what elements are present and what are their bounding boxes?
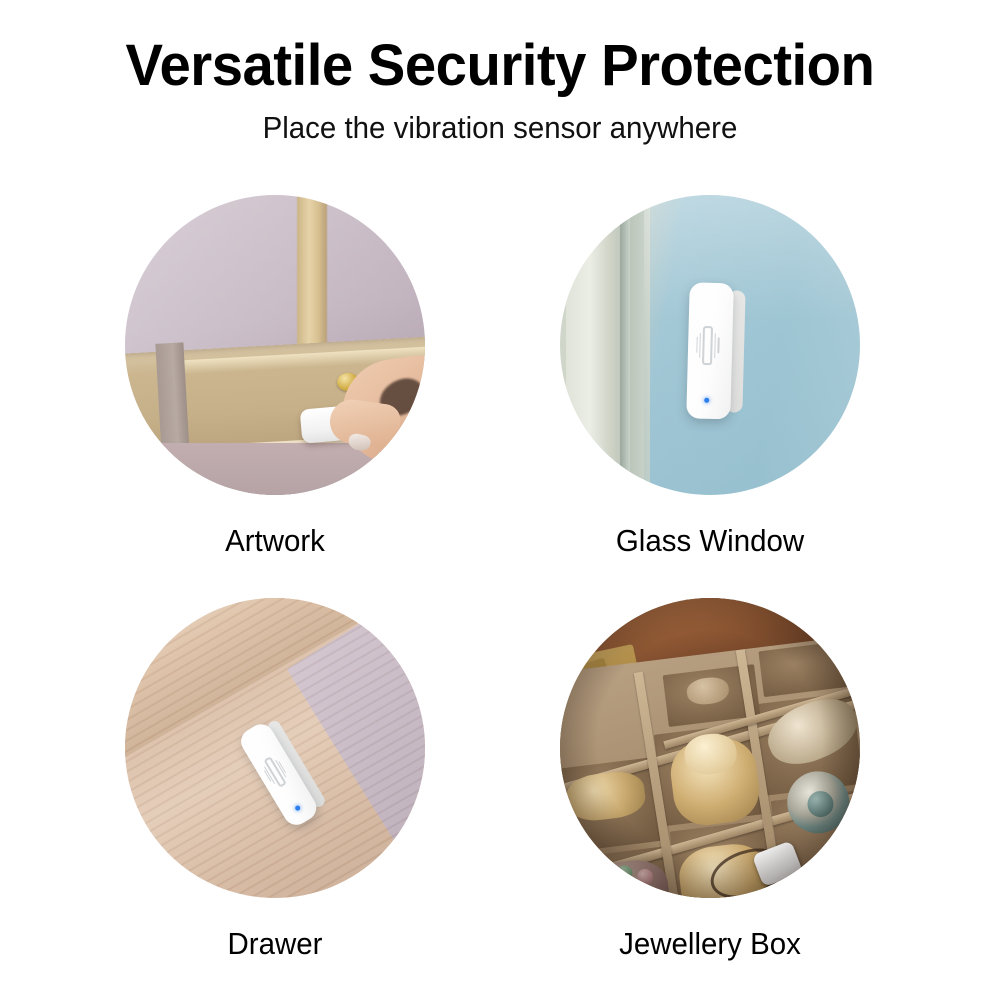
- photo-jewellery-box: [560, 598, 860, 898]
- vibration-sensor-icon: [696, 327, 720, 363]
- photo-artwork: [125, 195, 425, 495]
- photo-glass-window: [560, 195, 860, 495]
- wall-gold-stripe: [297, 195, 327, 345]
- led-indicator: [294, 805, 301, 812]
- gallery-item-jewellery-box: Jewellery Box: [550, 598, 870, 962]
- led-indicator: [704, 397, 709, 402]
- caption-artwork: Artwork: [123, 523, 427, 559]
- page-title: Versatile Security Protection: [15, 32, 985, 99]
- gallery-item-drawer: Drawer: [115, 598, 435, 962]
- hand: [312, 335, 425, 495]
- photo-drawer: [125, 598, 425, 898]
- vibration-core: [702, 326, 713, 366]
- vibration-wave-right-inner: [714, 333, 716, 358]
- caption-glass-window: Glass Window: [558, 523, 862, 559]
- vibration-wave-left-inner: [699, 333, 701, 358]
- gallery-item-glass-window: Glass Window: [550, 195, 870, 559]
- product-feature-page: Versatile Security Protection Place the …: [0, 0, 1000, 1000]
- vibration-wave-right-outer: [718, 338, 720, 354]
- caption-jewellery-box: Jewellery Box: [558, 926, 862, 962]
- page-subtitle: Place the vibration sensor anywhere: [25, 110, 975, 146]
- window-frame-edge: [620, 195, 630, 495]
- vibration-sensor-icon: [260, 755, 290, 788]
- caption-drawer: Drawer: [123, 926, 427, 962]
- photo-vignette: [560, 598, 860, 898]
- window-frame: [566, 195, 650, 495]
- device: [686, 282, 746, 419]
- gallery-item-artwork: Artwork: [115, 195, 435, 559]
- vibration-sensor-device: [686, 282, 746, 419]
- device-body: [686, 282, 733, 419]
- vibration-wave-left-outer: [696, 337, 698, 353]
- glass-sheen: [644, 195, 860, 495]
